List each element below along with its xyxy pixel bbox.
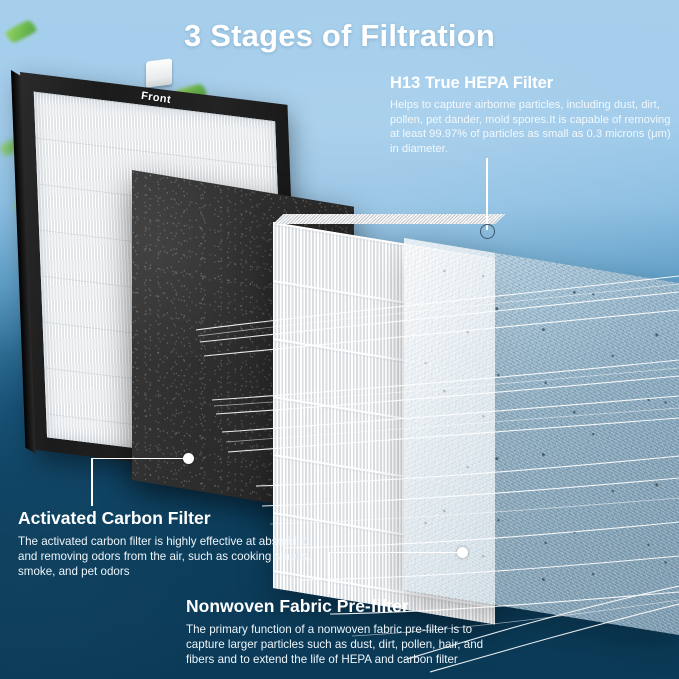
callout-hepa: H13 True HEPA Filter Helps to capture ai… — [390, 74, 672, 156]
filter-pull-tab — [146, 58, 172, 87]
hepa-top-edge — [273, 214, 505, 224]
callout-nonwoven-prefilter: Nonwoven Fabric Pre-filter The primary f… — [186, 596, 506, 668]
callout-hepa-title: H13 True HEPA Filter — [390, 74, 672, 93]
callout-hepa-body: Helps to capture airborne particles, inc… — [390, 98, 672, 156]
infographic-canvas: 3 Stages of Filtration Front — [0, 0, 679, 679]
callout-carbon-title: Activated Carbon Filter — [18, 508, 318, 529]
nonwoven-prefilter-panel — [404, 238, 679, 635]
callout-nonwoven-title: Nonwoven Fabric Pre-filter — [186, 596, 506, 617]
callout-activated-carbon: Activated Carbon Filter The activated ca… — [18, 508, 318, 580]
nonwoven-particle-specks — [404, 238, 679, 635]
page-title: 3 Stages of Filtration — [0, 18, 679, 54]
callout-nonwoven-body: The primary function of a nonwoven fabri… — [186, 622, 506, 668]
callout-carbon-body: The activated carbon filter is highly ef… — [18, 534, 318, 580]
